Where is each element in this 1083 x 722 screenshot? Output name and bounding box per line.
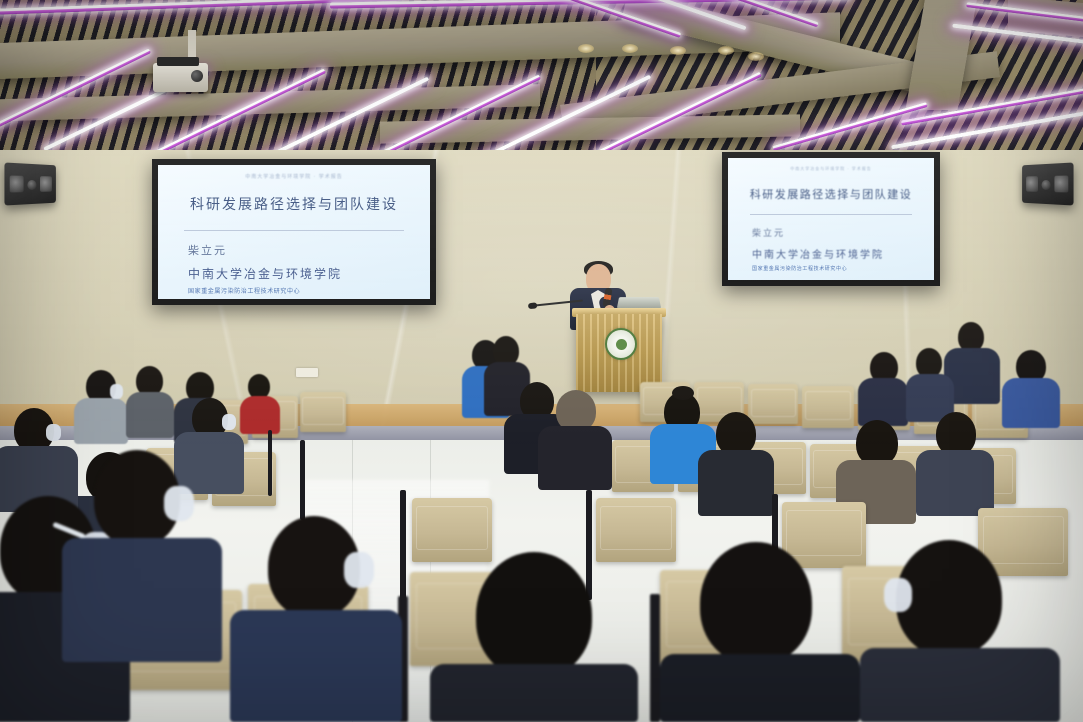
downlight-5 (748, 52, 764, 61)
torso (430, 664, 638, 722)
torso (698, 450, 774, 516)
slide-divider (184, 230, 404, 231)
torso (538, 426, 612, 490)
downlight-4 (718, 46, 734, 55)
university-crest (605, 328, 637, 360)
slide-divider (750, 214, 912, 215)
speaker-driver-left (1026, 176, 1038, 192)
slide-title: 科研发展路径选择与团队建设 (728, 186, 934, 202)
torso (660, 654, 860, 722)
wall-outlet-left (296, 368, 318, 377)
torso (174, 432, 244, 494)
hair-bun (672, 386, 694, 400)
face-mask (344, 552, 374, 588)
wall-speaker-left (4, 162, 55, 205)
ceiling (0, 0, 1083, 172)
head (476, 552, 592, 678)
slide-author: 柴立元 (752, 226, 934, 239)
speaker-driver-right (40, 176, 52, 192)
slide-title: 科研发展路径选择与团队建设 (158, 194, 430, 214)
face-mask (222, 414, 236, 430)
seat (300, 392, 346, 432)
seat (412, 498, 492, 562)
face-mask (110, 384, 123, 399)
face-mask (164, 486, 194, 521)
face-mask (884, 578, 912, 612)
seat (748, 384, 798, 424)
seat-row-rail (586, 490, 592, 600)
torso (860, 648, 1060, 722)
slide-header: 中南大学冶金与环境学院 · 学术报告 (728, 166, 934, 172)
torso (1002, 378, 1060, 428)
head (700, 542, 812, 664)
slide-organization: 中南大学冶金与环境学院 (188, 265, 430, 282)
torso (62, 538, 222, 662)
downlight-3 (670, 46, 686, 55)
projector-lens (191, 70, 203, 82)
torso (240, 396, 280, 434)
slide-organization: 中南大学冶金与环境学院 (752, 246, 934, 261)
slide-right: 中南大学冶金与环境学院 · 学术报告 科研发展路径选择与团队建设 柴立元 中南大… (728, 158, 934, 280)
speaker-tweeter-left (27, 180, 36, 190)
seat (802, 386, 854, 428)
torso (126, 392, 174, 438)
slide-research-center: 国家重金属污染防治工程技术研究中心 (752, 265, 934, 272)
speaker-tweeter-right (1041, 180, 1050, 190)
wall-speaker-right (1022, 162, 1073, 205)
podium-laptop (617, 297, 661, 308)
ceiling-projector (153, 63, 208, 92)
slide-header: 中南大学冶金与环境学院 · 学术报告 (158, 173, 430, 180)
seat-row-rail-foreground (650, 594, 660, 722)
speaker-driver-left (10, 176, 24, 193)
speaker-driver-right (1054, 176, 1068, 193)
slide-author: 柴立元 (188, 242, 430, 258)
slide-research-center: 国家重金属污染防治工程技术研究中心 (188, 286, 430, 295)
right-screen-surface: 中南大学冶金与环境学院 · 学术报告 科研发展路径选择与团队建设 柴立元 中南大… (728, 158, 934, 280)
left-projection-screen: 中南大学冶金与环境学院 · 学术报告 科研发展路径选择与团队建设 柴立元 中南大… (152, 159, 436, 305)
seat-row-rail (400, 490, 406, 600)
left-screen-surface: 中南大学冶金与环境学院 · 学术报告 科研发展路径选择与团队建设 柴立元 中南大… (158, 165, 430, 299)
downlight-1 (578, 44, 594, 53)
torso (916, 450, 994, 516)
lecture-hall-photo: 中南大学冶金与环境学院 · 学术报告 科研发展路径选择与团队建设 柴立元 中南大… (0, 0, 1083, 722)
seat (596, 498, 676, 562)
face-mask (46, 424, 61, 441)
torso (74, 398, 128, 444)
torso (858, 378, 908, 426)
torso (230, 610, 402, 722)
downlight-2 (622, 44, 638, 53)
seat-row-rail (300, 440, 305, 520)
slide-left: 中南大学冶金与环境学院 · 学术报告 科研发展路径选择与团队建设 柴立元 中南大… (158, 165, 430, 299)
right-projection-screen: 中南大学冶金与环境学院 · 学术报告 科研发展路径选择与团队建设 柴立元 中南大… (722, 152, 940, 286)
seat-row-rail (268, 430, 272, 496)
wooden-lectern (576, 314, 662, 392)
